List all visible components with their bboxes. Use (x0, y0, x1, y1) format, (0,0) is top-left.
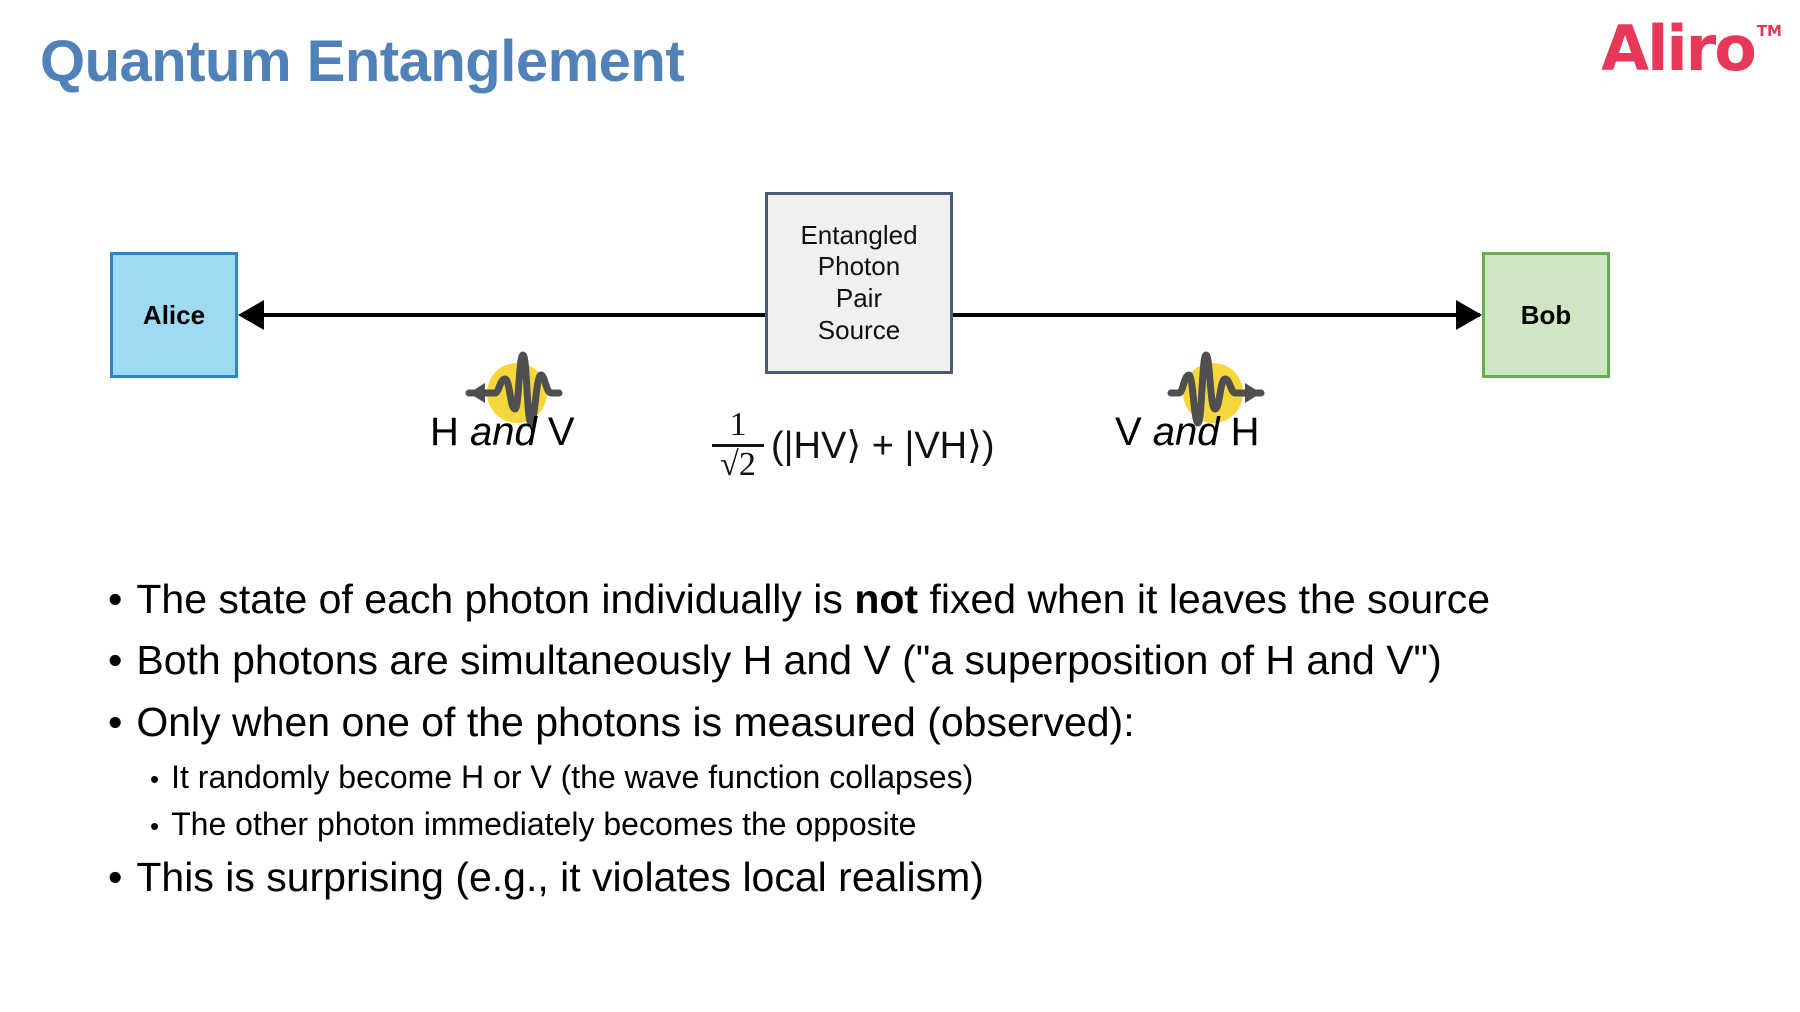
bullet-text-run: This is surprising (e.g., it violates lo… (136, 854, 984, 900)
bullet-marker-icon: • (150, 766, 159, 792)
left-pol-second: V (537, 410, 575, 454)
entanglement-diagram: Alice Bob Entangled Photon Pair Source H… (0, 160, 1800, 490)
bullet-text-run: Both photons are simultaneously H and V … (136, 637, 1441, 683)
aliro-wordmark: Aliro (1601, 18, 1755, 80)
left-pol-conjunction: and (470, 410, 537, 454)
right-pol-second: H (1220, 410, 1260, 454)
trademark-icon: TM (1757, 22, 1782, 40)
alice-node: Alice (110, 252, 238, 378)
bullet-text: The other photon immediately becomes the… (171, 806, 916, 844)
fraction-numerator: 1 (730, 408, 747, 444)
page-title: Quantum Entanglement (40, 28, 684, 95)
right-pol-first: V (1115, 410, 1153, 454)
bob-label: Bob (1521, 300, 1572, 331)
bullet-text-run: fixed when it leaves the source (918, 576, 1490, 622)
bullet-item: •This is surprising (e.g., it violates l… (108, 853, 1748, 901)
ket-expression: (|HV⟩ + |VH⟩) (771, 423, 995, 468)
bullet-text-run: The state of each photon individually is (136, 576, 854, 622)
bullet-emphasis: not (854, 576, 918, 622)
fraction-denominator: √2 (720, 447, 756, 482)
right-pol-conjunction: and (1153, 410, 1220, 454)
bullet-text: Both photons are simultaneously H and V … (136, 636, 1441, 684)
bullet-text: The state of each photon individually is… (136, 575, 1490, 623)
bullet-text-run: Only when one of the photons is measured… (136, 699, 1134, 745)
bullet-text: Only when one of the photons is measured… (136, 698, 1134, 746)
aliro-logo: Aliro TM (1601, 18, 1782, 80)
right-polarization-label: V and H (1115, 410, 1260, 455)
bullet-list: •The state of each photon individually i… (108, 575, 1748, 914)
bullet-marker-icon: • (150, 813, 159, 839)
entangled-photon-pair-source-node: Entangled Photon Pair Source (765, 192, 953, 374)
source-line-4: Source (818, 315, 900, 347)
link-line-source-to-alice (248, 313, 768, 317)
left-polarization-label: H and V (430, 410, 575, 455)
bullet-text: This is surprising (e.g., it violates lo… (136, 853, 984, 901)
bullet-marker-icon: • (108, 640, 122, 681)
alice-label: Alice (143, 300, 205, 331)
link-line-source-to-bob (950, 313, 1480, 317)
source-line-1: Entangled (800, 220, 917, 252)
bullet-marker-icon: • (108, 702, 122, 743)
bullet-text-run: The other photon immediately becomes the… (171, 806, 916, 842)
arrow-right-icon (1456, 300, 1482, 330)
bullet-marker-icon: • (108, 857, 122, 898)
bob-node: Bob (1482, 252, 1610, 378)
one-over-sqrt-two-fraction: 1 √2 (712, 408, 764, 482)
bullet-item: •The state of each photon individually i… (108, 575, 1748, 623)
bullet-item: •Both photons are simultaneously H and V… (108, 636, 1748, 684)
arrow-left-icon (238, 300, 264, 330)
left-pol-first: H (430, 410, 470, 454)
bell-state-formula: 1 √2 (|HV⟩ + |VH⟩) (712, 408, 995, 482)
bullet-text: It randomly become H or V (the wave func… (171, 759, 973, 797)
source-line-2: Photon (818, 251, 900, 283)
bullet-item: •The other photon immediately becomes th… (150, 806, 1748, 844)
source-line-3: Pair (836, 283, 882, 315)
bullet-marker-icon: • (108, 579, 122, 620)
bullet-item: •Only when one of the photons is measure… (108, 698, 1748, 746)
bullet-text-run: It randomly become H or V (the wave func… (171, 759, 973, 795)
bullet-item: •It randomly become H or V (the wave fun… (150, 759, 1748, 797)
